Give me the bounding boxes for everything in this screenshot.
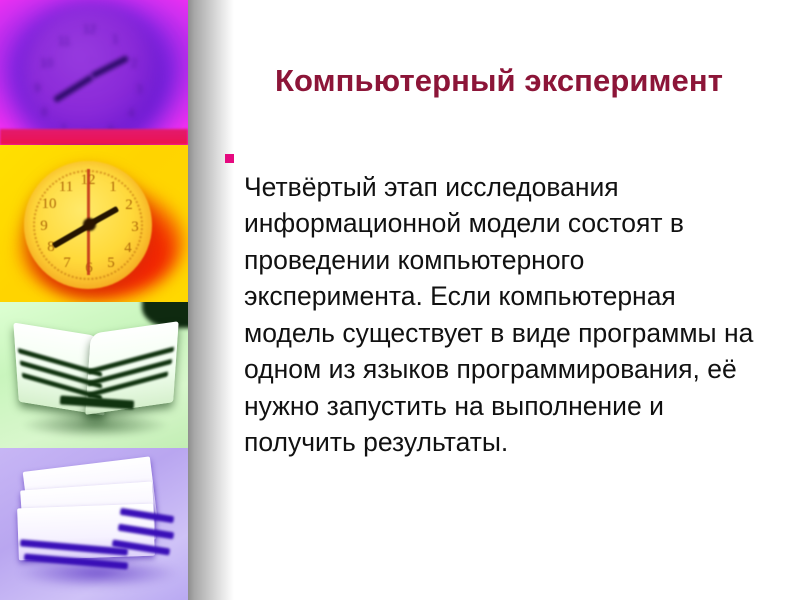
lavender-paper-stack-photo: [0, 448, 188, 600]
clock-numeral: 1: [112, 32, 121, 43]
paper-stack-shadow: [18, 558, 178, 588]
clock-numeral: 9: [35, 218, 53, 235]
clock-numeral: 12: [83, 22, 92, 33]
bullet-paragraph-text: Четвёртый этап исследования информационн…: [244, 169, 765, 461]
clock-numeral: 9: [34, 81, 43, 92]
book-drop-shadow: [20, 412, 170, 438]
blurred-magenta-clock-photo: 12 1 2 3 4 5 6 7 8 9 10 11: [0, 0, 188, 145]
decorative-photo-strip: 12 1 2 3 4 5 6 7 8 9 10 11 12 1 2 3 4: [0, 0, 188, 600]
clock-numeral: 3: [136, 82, 145, 93]
clock-numeral: 7: [58, 255, 76, 272]
clock-numeral: 2: [120, 197, 138, 214]
clock-numeral: 3: [126, 219, 144, 236]
clock-numeral: 10: [40, 56, 49, 67]
clock-numeral: 11: [57, 179, 75, 196]
clock-numeral: 10: [40, 196, 58, 213]
presentation-slide: 12 1 2 3 4 5 6 7 8 9 10 11 12 1 2 3 4: [0, 0, 800, 600]
clock-numeral: 2: [131, 56, 140, 67]
clock-numeral: 1: [104, 179, 122, 196]
slide-content-area: Компьютерный эксперимент Четвёртый этап …: [234, 0, 800, 600]
clock-numeral: 4: [128, 106, 137, 117]
yellow-orange-clock-photo: 12 1 2 3 4 5 6 7 8 9 10 11: [0, 145, 188, 302]
crimson-band: [0, 129, 188, 145]
clock-numeral: 5: [102, 255, 120, 272]
green-tinted-open-book-photo: [0, 302, 188, 448]
clock-numeral: 4: [119, 240, 137, 257]
clock-numeral: 8: [41, 105, 50, 116]
square-bullet-icon: [225, 154, 234, 163]
clock-numeral: 11: [58, 34, 67, 45]
slide-title: Компьютерный эксперимент: [234, 63, 764, 99]
clock-center-pin: [83, 218, 96, 231]
bullet-list-item: Четвёртый этап исследования информационн…: [225, 142, 765, 487]
